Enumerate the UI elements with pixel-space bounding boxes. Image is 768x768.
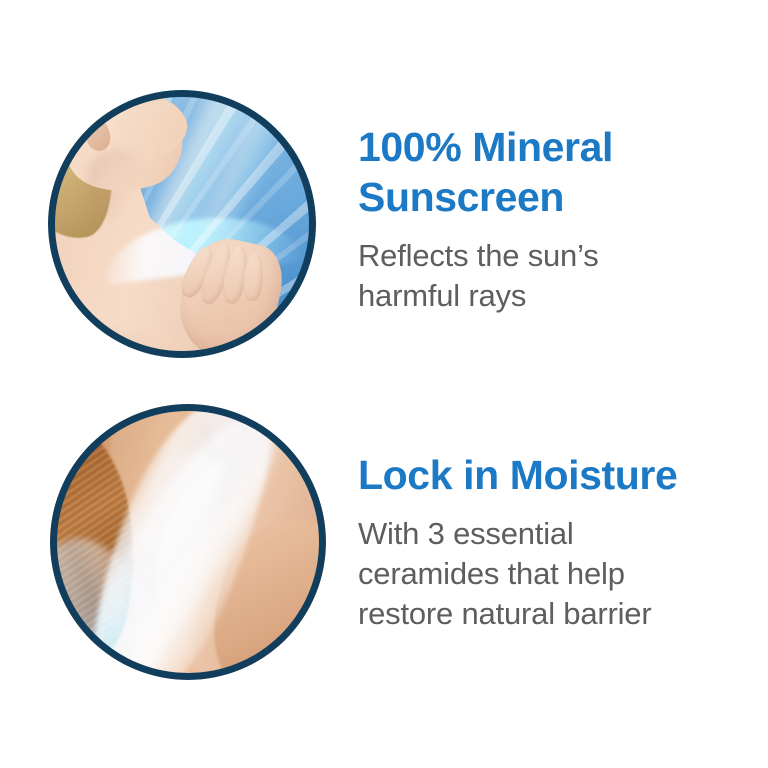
feature-copy-lock-in-moisture: Lock in Moisture With 3 essentialceramid… [358, 450, 750, 634]
feature-image-mineral-sunscreen [48, 90, 316, 358]
feature-image-lock-in-moisture [50, 404, 326, 680]
subtext-line: harmful rays [358, 278, 526, 313]
feature-subtext: Reflects the sun’sharmful rays [358, 236, 750, 316]
subtext-line: Reflects the sun’s [358, 238, 599, 273]
subtext-line: ceramides that help [358, 556, 625, 591]
benefits-infographic: 100% MineralSunscreen Reflects the sun’s… [0, 0, 768, 768]
feature-copy-mineral-sunscreen: 100% MineralSunscreen Reflects the sun’s… [358, 122, 750, 316]
neck-shadow [86, 149, 145, 219]
feature-headline: Lock in Moisture [358, 450, 750, 500]
feature-subtext: With 3 essentialceramides that helpresto… [358, 514, 750, 634]
subtext-line: restore natural barrier [358, 596, 651, 631]
feature-headline: 100% MineralSunscreen [358, 122, 750, 222]
headline-line: 100% Mineral [358, 124, 613, 170]
subtext-line: With 3 essential [358, 516, 574, 551]
photo-woman-moisture-ribbon [50, 404, 326, 680]
headline-line: Sunscreen [358, 174, 564, 220]
photo-woman-sun-rays [48, 90, 316, 358]
